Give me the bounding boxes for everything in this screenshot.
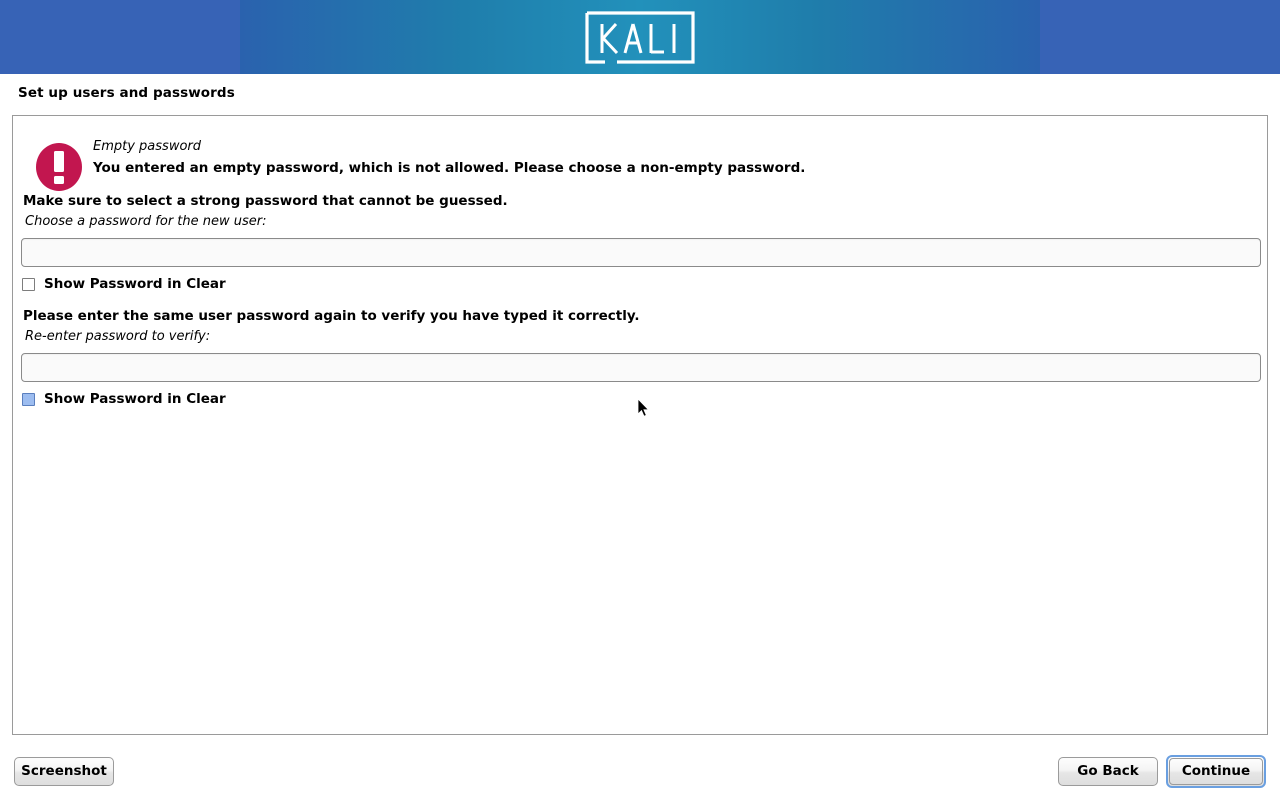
continue-button[interactable]: Continue xyxy=(1166,755,1266,788)
kali-banner xyxy=(0,0,1280,74)
go-back-button[interactable]: Go Back xyxy=(1058,757,1158,786)
error-description: You entered an empty password, which is … xyxy=(93,159,805,178)
error-text-group: Empty password You entered an empty pass… xyxy=(93,138,805,178)
password-input[interactable] xyxy=(21,238,1261,267)
password-field-label: Choose a password for the new user: xyxy=(25,214,267,229)
installer-window: Set up users and passwords Empty passwor… xyxy=(0,0,1280,800)
strong-password-note: Make sure to select a strong password th… xyxy=(23,193,508,209)
error-exclamation-icon xyxy=(35,142,83,192)
checkbox-box-focused[interactable] xyxy=(22,393,35,406)
show-password-1-row[interactable]: Show Password in Clear xyxy=(22,276,226,294)
content-panel: Empty password You entered an empty pass… xyxy=(12,115,1268,735)
checkbox-box[interactable] xyxy=(22,278,35,291)
show-password-2-label: Show Password in Clear xyxy=(44,391,226,407)
screenshot-button[interactable]: Screenshot xyxy=(14,757,114,786)
verify-input-wrapper[interactable] xyxy=(21,353,1261,382)
continue-button-inner[interactable]: Continue xyxy=(1169,758,1263,785)
verify-password-note: Please enter the same user password agai… xyxy=(23,308,640,324)
password-input-wrapper[interactable] xyxy=(21,238,1261,267)
continue-button-label: Continue xyxy=(1182,765,1250,779)
kali-logo xyxy=(583,9,697,66)
error-title: Empty password xyxy=(93,138,805,156)
show-password-1-label: Show Password in Clear xyxy=(44,276,226,292)
show-password-2-row[interactable]: Show Password in Clear xyxy=(22,391,226,409)
verify-field-label: Re-enter password to verify: xyxy=(25,329,210,344)
show-password-1-checkbox[interactable]: Show Password in Clear xyxy=(22,276,226,292)
page-title: Set up users and passwords xyxy=(18,85,235,101)
verify-password-input[interactable] xyxy=(21,353,1261,382)
show-password-2-checkbox[interactable]: Show Password in Clear xyxy=(22,391,226,407)
